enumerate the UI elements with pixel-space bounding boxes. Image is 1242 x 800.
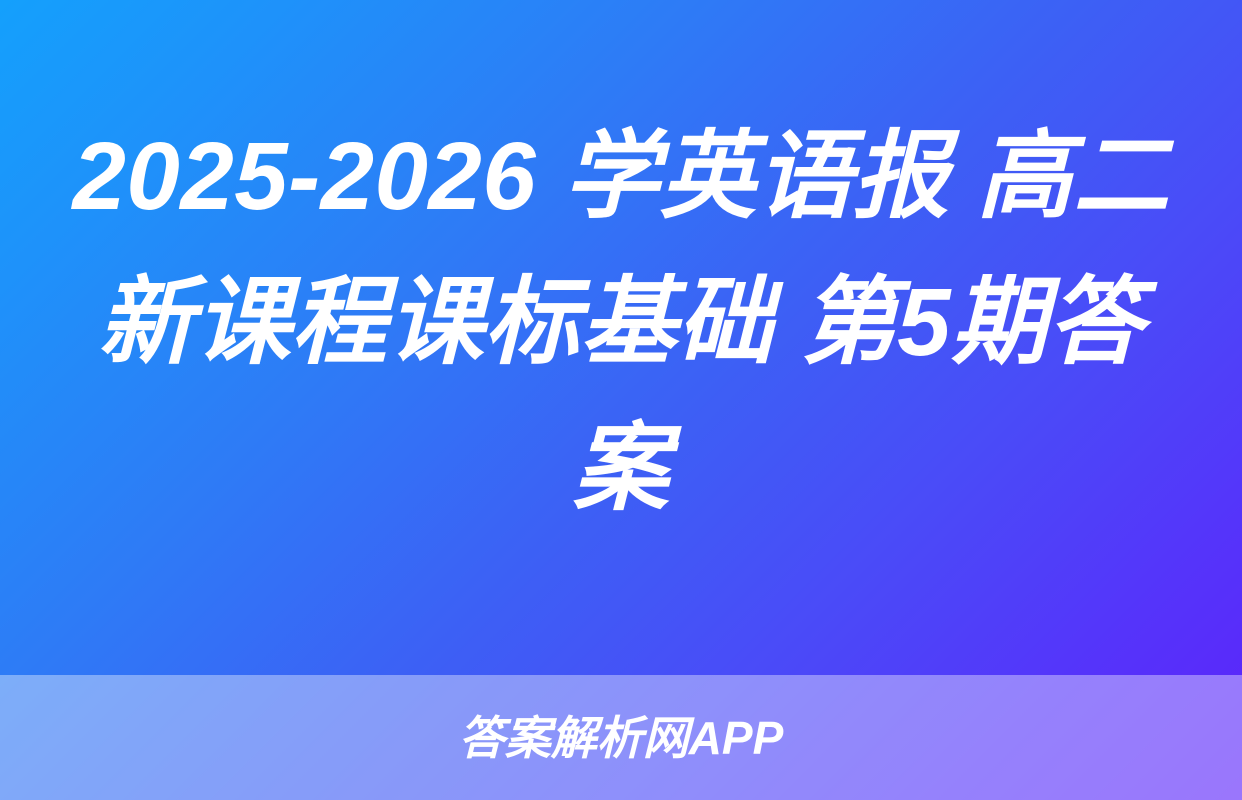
app-watermark-label: 答案解析网APP bbox=[459, 715, 784, 761]
footer-watermark-band: 答案解析网APP bbox=[0, 675, 1242, 800]
page-title: 2025-2026 学英语报 高二 新课程课标基础 第5期答案 bbox=[60, 104, 1182, 542]
title-block: 2025-2026 学英语报 高二 新课程课标基础 第5期答案 bbox=[0, 0, 1242, 675]
promo-banner: 2025-2026 学英语报 高二 新课程课标基础 第5期答案 答案解析网APP bbox=[0, 0, 1242, 800]
